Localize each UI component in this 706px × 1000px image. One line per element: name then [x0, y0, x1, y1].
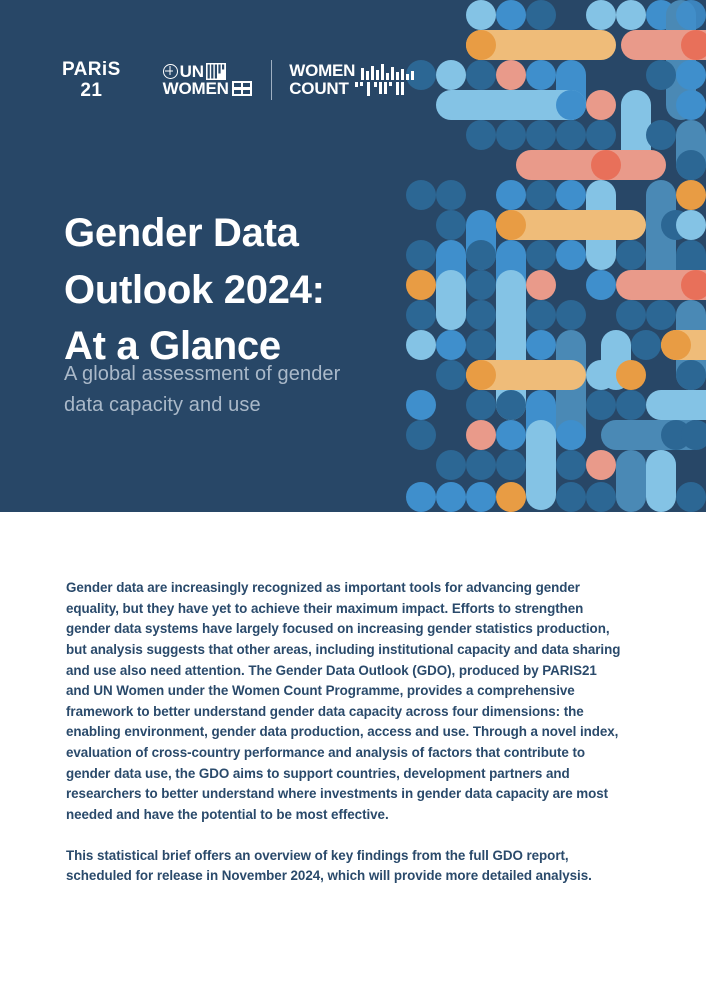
logo-divider	[271, 60, 273, 100]
paris21-logo-line2: 21	[80, 81, 102, 100]
women-count-logo: WOMEN COUNT	[289, 62, 416, 98]
page-subtitle-line-1: A global assessment of gender	[64, 359, 404, 390]
bar-chart-mark-icon-top	[360, 64, 416, 80]
paris21-logo-line1: PARiS	[62, 60, 121, 79]
women-count-logo-line1: WOMEN	[289, 62, 355, 80]
un-globe-emblem-icon	[163, 64, 178, 79]
page-title: Gender Data Outlook 2024: At a Glance	[64, 205, 414, 375]
un-women-logo-line2: WOMEN	[163, 80, 229, 97]
logo-row: PARiS 21 UN WOMEN	[62, 57, 416, 103]
bar-chart-mark-icon-bottom	[354, 82, 410, 98]
un-women-grid-icon	[206, 63, 226, 80]
decorative-dot-pattern	[406, 0, 706, 512]
paris21-logo: PARiS 21	[62, 60, 121, 100]
hero-banner: PARiS 21 UN WOMEN	[0, 0, 706, 512]
un-women-logo: UN WOMEN	[163, 63, 252, 98]
body-paragraph-1: Gender data are increasingly recognized …	[66, 578, 624, 826]
page-title-line-1: Gender Data	[64, 205, 414, 262]
women-count-logo-line2: COUNT	[289, 80, 348, 98]
body-copy: Gender data are increasingly recognized …	[66, 578, 624, 887]
page-subtitle: A global assessment of gender data capac…	[64, 359, 404, 422]
un-women-block-icon	[232, 81, 252, 96]
un-women-logo-line1: UN	[180, 63, 204, 80]
body-paragraph-2: This statistical brief offers an overvie…	[66, 846, 624, 887]
page-title-line-2: Outlook 2024:	[64, 262, 414, 319]
page-subtitle-line-2: data capacity and use	[64, 390, 404, 421]
